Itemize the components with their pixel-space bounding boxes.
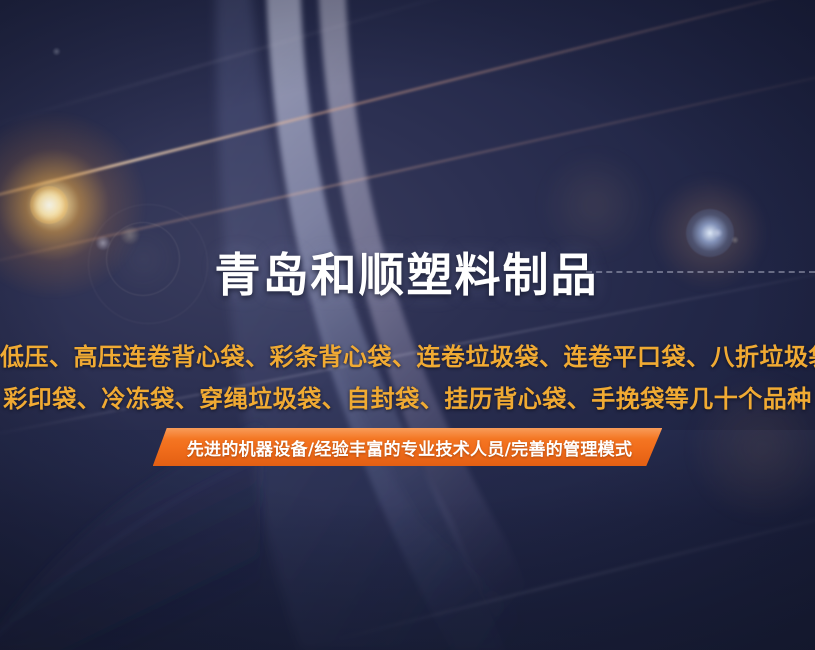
banner-title-text: 青岛和顺塑料制品 [215,248,601,302]
product-list-line-1: 低压、高压连卷背心袋、彩条背心袋、连卷垃圾袋、连卷平口袋、八折垃圾袋、 [0,337,815,372]
product-list-line-2: 彩印袋、冷冻袋、穿绳垃圾袋、自封袋、挂历背心袋、手挽袋等几十个品种 [0,379,815,414]
banner-title: 青岛和顺塑料制品 [0,246,815,304]
ribbon-tail [141,466,163,478]
ribbon-container: 先进的机器设备/经验丰富的专业技术人员/完善的管理模式 [0,428,815,466]
tagline-ribbon: 先进的机器设备/经验丰富的专业技术人员/完善的管理模式 [153,428,663,466]
ribbon-text: 先进的机器设备/经验丰富的专业技术人员/完善的管理模式 [187,435,633,460]
banner-content: 青岛和顺塑料制品 低压、高压连卷背心袋、彩条背心袋、连卷垃圾袋、连卷平口袋、八折… [0,0,815,650]
promo-banner: 青岛和顺塑料制品 低压、高压连卷背心袋、彩条背心袋、连卷垃圾袋、连卷平口袋、八折… [0,0,815,650]
